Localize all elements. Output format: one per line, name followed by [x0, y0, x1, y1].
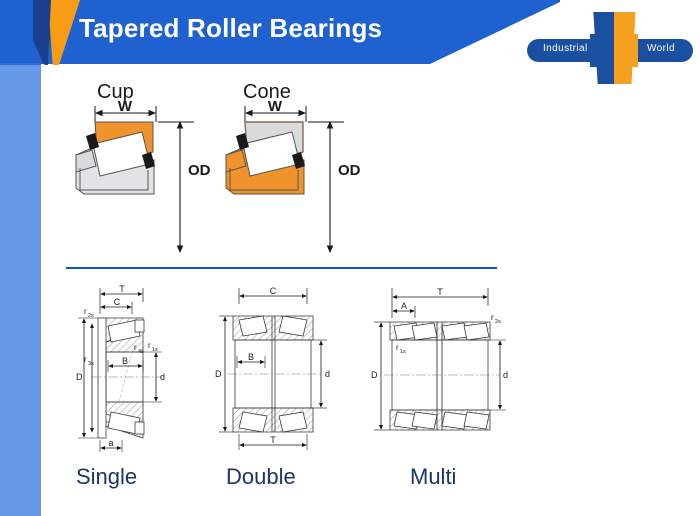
left-rail [0, 65, 41, 516]
double-bearing-diagram: C D d B T [205, 280, 335, 455]
svg-text:r: r [148, 341, 151, 350]
svg-text:r: r [491, 313, 494, 322]
svg-text:D: D [76, 372, 83, 382]
label-double: Double [226, 464, 296, 490]
cup-diagram: W OD [62, 100, 212, 260]
svg-text:d: d [160, 372, 165, 382]
section-divider [66, 267, 497, 269]
svg-text:D: D [371, 370, 378, 380]
logo-word-industrial: Industrial [543, 43, 588, 54]
svg-text:3s: 3s [88, 361, 94, 367]
svg-text:C: C [270, 286, 277, 296]
svg-text:B: B [122, 356, 128, 366]
svg-text:B: B [248, 352, 254, 362]
cup-od-label: OD [188, 162, 211, 179]
multi-bearing-diagram: T A D d r [360, 280, 515, 455]
page-title: Tapered Roller Bearings [79, 13, 382, 44]
svg-text:D: D [215, 369, 222, 379]
label-multi: Multi [410, 464, 456, 490]
svg-text:T: T [437, 287, 443, 297]
logo-cross-blue-overlap [590, 34, 614, 67]
svg-text:2s: 2s [495, 319, 501, 325]
svg-text:T: T [119, 284, 125, 294]
svg-text:1s: 1s [400, 349, 406, 355]
svg-text:W: W [268, 100, 283, 115]
svg-text:r: r [396, 343, 399, 352]
svg-text:W: W [118, 100, 133, 115]
svg-text:T: T [270, 435, 276, 445]
svg-text:a: a [108, 438, 113, 448]
svg-text:r: r [134, 343, 137, 352]
svg-text:d: d [503, 370, 508, 380]
svg-text:C: C [114, 297, 121, 307]
svg-text:2s: 2s [88, 313, 94, 319]
svg-text:A: A [401, 301, 407, 311]
logo-cross-orange-overlap [614, 34, 638, 67]
svg-text:d: d [325, 369, 330, 379]
logo-word-world: World [647, 43, 675, 54]
slide-root: Tapered Roller Bearings Industrial World… [0, 0, 700, 516]
single-bearing-diagram: T C D r 3s r 2 [62, 280, 197, 455]
label-single: Single [76, 464, 137, 490]
svg-text:1s: 1s [152, 347, 158, 353]
svg-text:4s: 4s [138, 349, 144, 355]
cone-od-label: OD [338, 162, 361, 179]
svg-text:r: r [84, 355, 87, 364]
brand-logo[interactable]: Industrial World [527, 6, 693, 84]
cone-diagram: W OD [212, 100, 362, 260]
svg-text:r: r [84, 307, 87, 316]
